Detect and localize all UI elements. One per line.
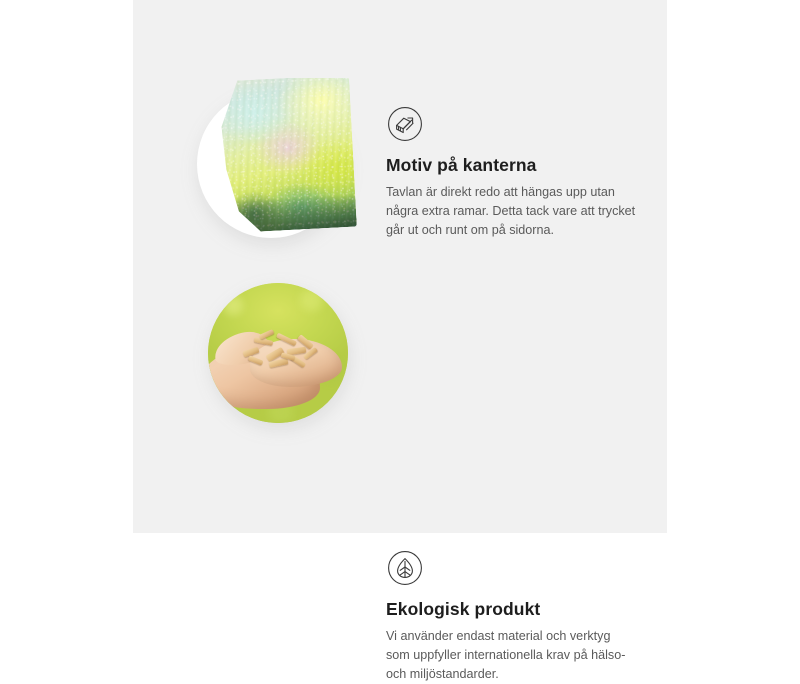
canvas-wrap-icon — [386, 105, 424, 143]
feature-title: Motiv på kanterna — [386, 155, 656, 176]
promo-graphic: Motiv på kanterna Tavlan är direkt redo … — [0, 0, 800, 533]
feature-text-motiv-pa-kanterna: Motiv på kanterna Tavlan är direkt redo … — [386, 105, 656, 240]
feature-block-motiv-pa-kanterna: Motiv på kanterna Tavlan är direkt redo … — [133, 0, 667, 266]
wood-chips-photo — [208, 283, 348, 423]
feature-description: Tavlan är direkt redo att hängas upp uta… — [386, 183, 636, 240]
feature-block-ekologisk-produkt: Ekologisk produkt Vi använder endast mat… — [133, 266, 667, 533]
feature-text-ekologisk-produkt: Ekologisk produkt Vi använder endast mat… — [386, 549, 656, 684]
canvas-print-disc — [197, 90, 345, 238]
wood-chip-heap — [242, 329, 323, 371]
content-panel: Motiv på kanterna Tavlan är direkt redo … — [133, 0, 667, 533]
leaf-icon — [386, 549, 424, 587]
feature-title: Ekologisk produkt — [386, 599, 656, 620]
feature-description: Vi använder endast material och verktyg … — [386, 627, 636, 684]
